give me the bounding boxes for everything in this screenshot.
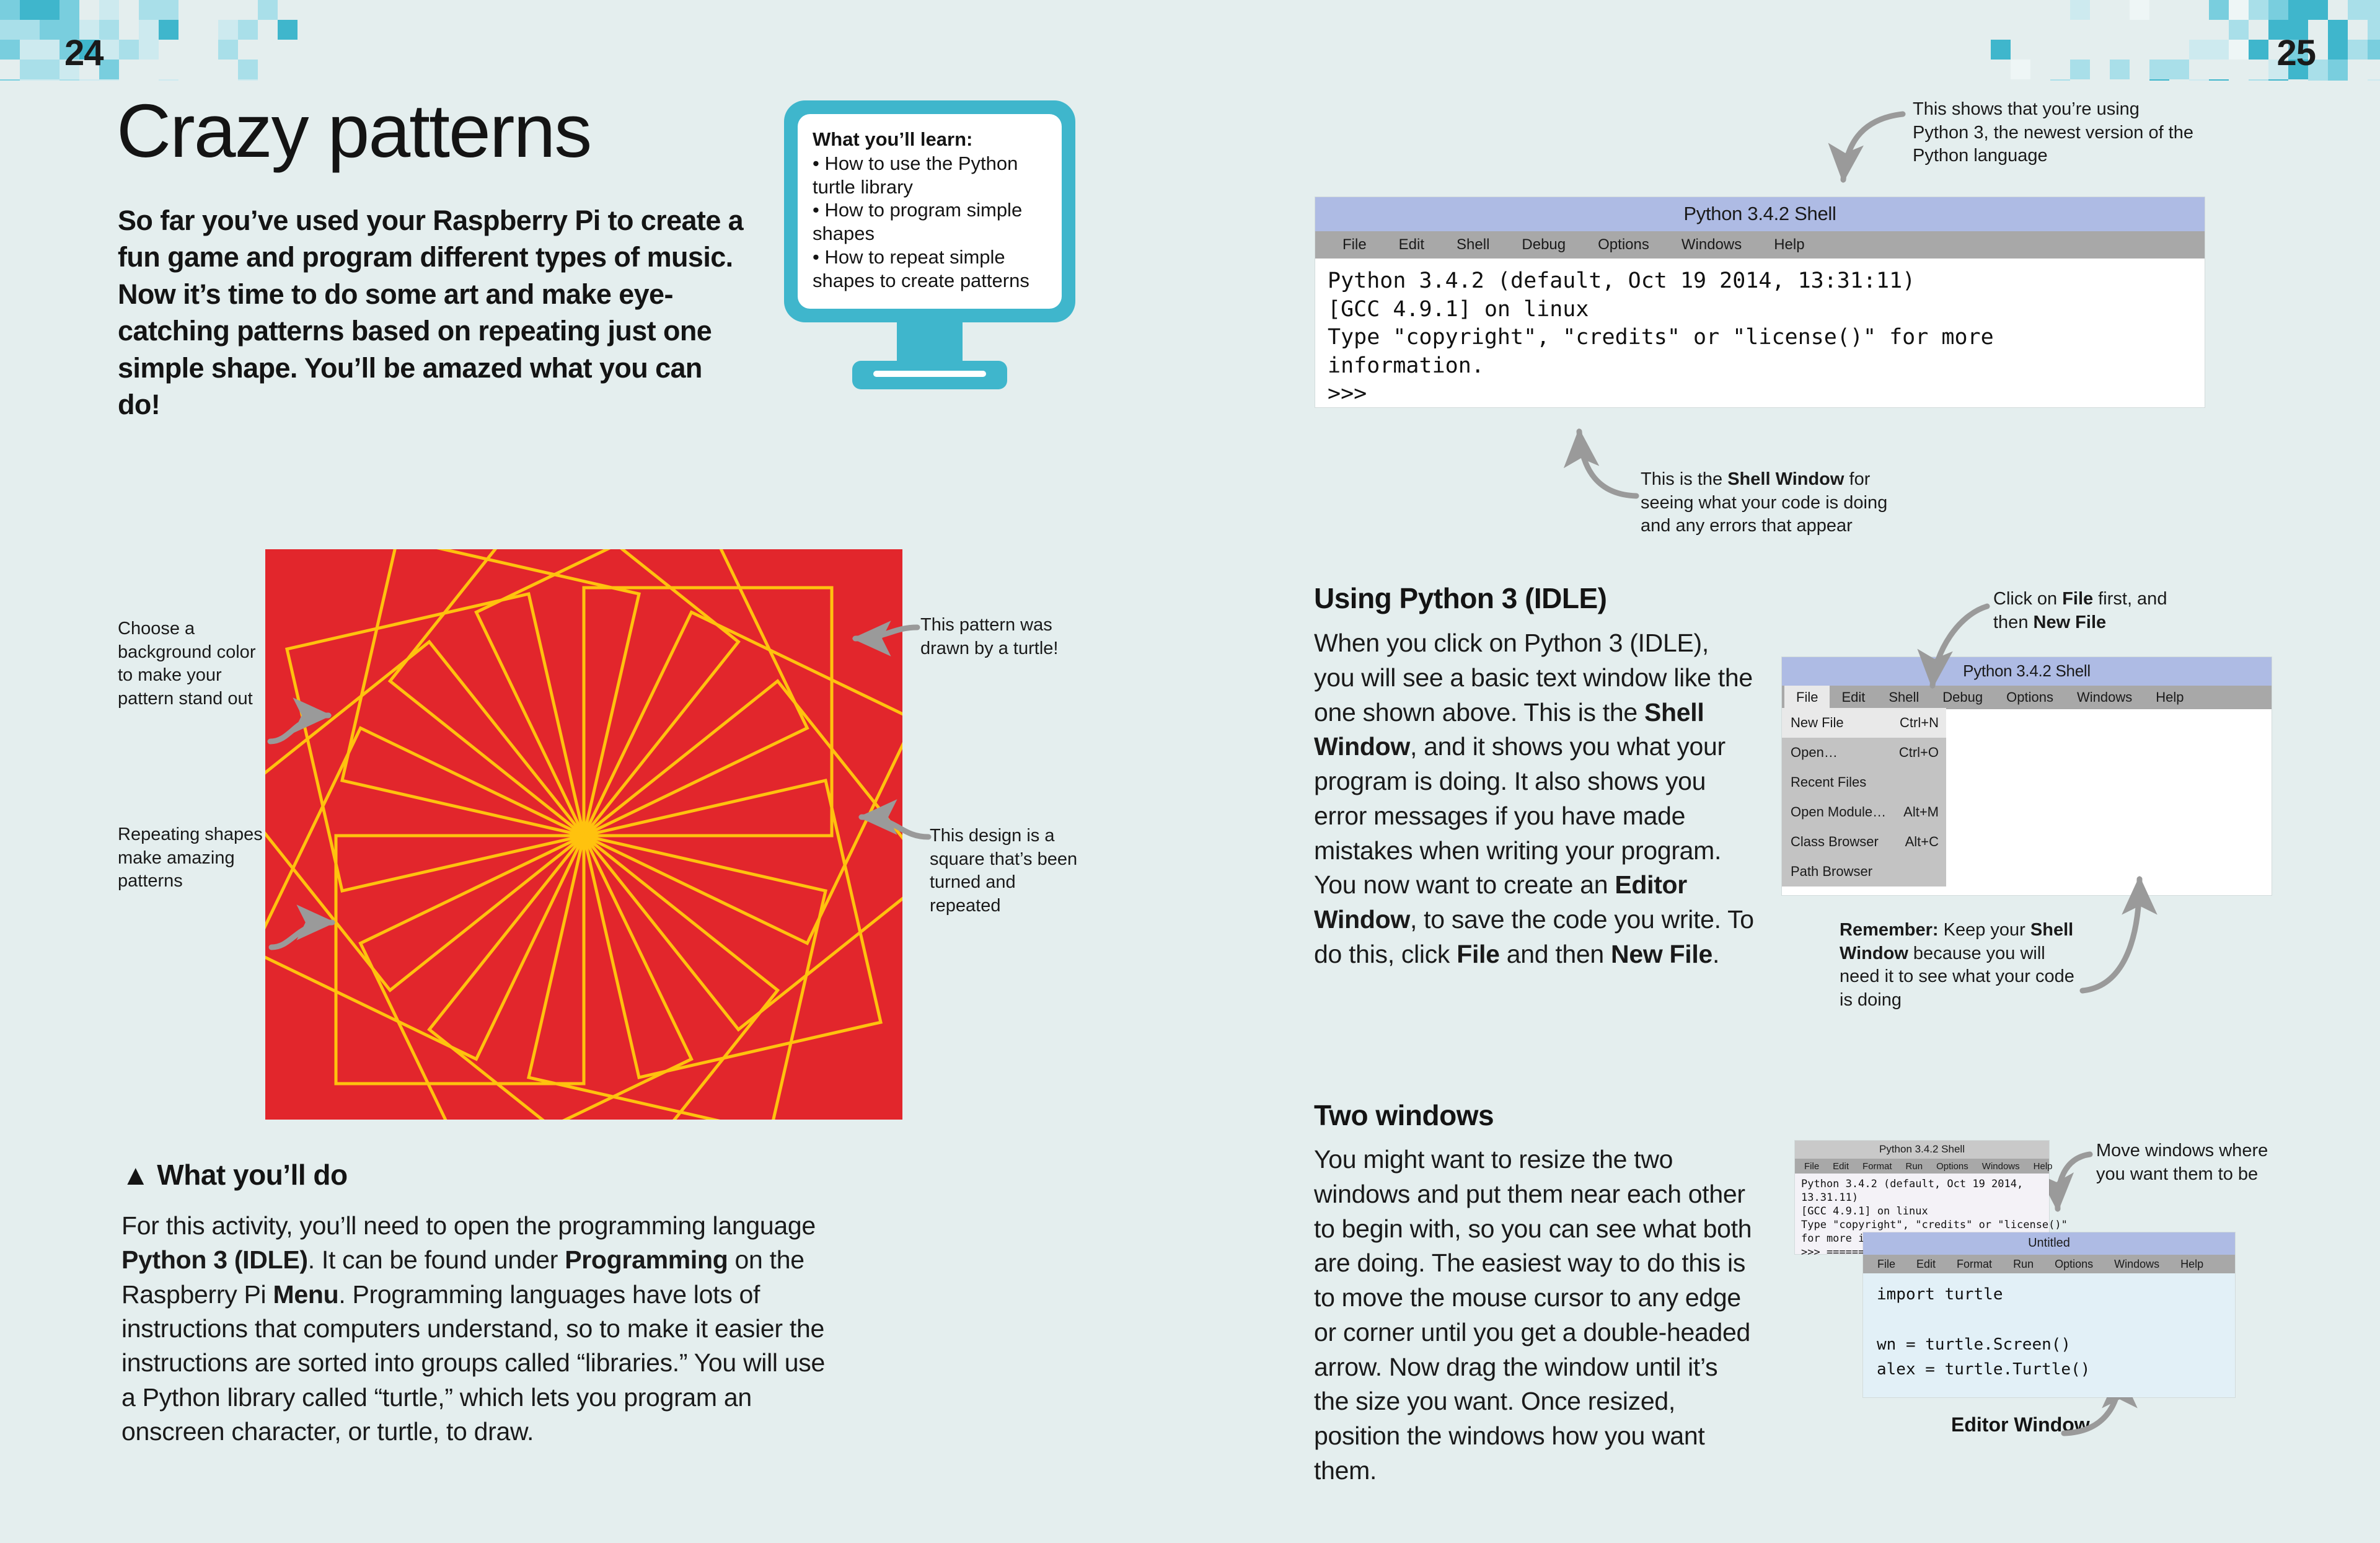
intro-paragraph: So far you’ve used your Raspberry Pi to …: [118, 202, 744, 423]
editor-menu-item-options[interactable]: Options: [2044, 1258, 2104, 1271]
menu-item-options[interactable]: Options: [1582, 236, 1665, 254]
annotation-drawn-by-turtle: This pattern was drawn by a turtle!: [920, 614, 1075, 660]
editor-menu-item-format[interactable]: Format: [1946, 1258, 2003, 1271]
dropdown-shortcut-class-browser: Alt+C: [1894, 834, 1939, 850]
menu-item-debug-2[interactable]: Debug: [1931, 689, 1994, 705]
monitor-bullet-3: • How to repeat simple shapes to create …: [813, 245, 1047, 293]
monitor-base: [852, 361, 1007, 389]
annotation-remember-shell: Remember: Keep your Shell Window because…: [1840, 919, 2081, 1012]
annotation-python3-version: This shows that you’re using Python 3, t…: [1913, 98, 2198, 168]
editor-menu-item-help[interactable]: Help: [2170, 1258, 2214, 1271]
menu-item-windows-2[interactable]: Windows: [2065, 689, 2144, 705]
dropdown-label-open: Open…: [1791, 745, 1838, 761]
shell-window-menubar[interactable]: File Edit Shell Debug Options Windows He…: [1315, 231, 2205, 259]
annotation-design-square: This design is a square that’s been turn…: [930, 825, 1078, 918]
mini-editor-code[interactable]: import turtle wn = turtle.Screen() alex …: [1863, 1273, 2235, 1397]
dropdown-item-class-browser[interactable]: Class Browser Alt+C: [1782, 827, 1946, 857]
monitor-heading: What you’ll learn:: [813, 128, 1047, 152]
mini-editor-window[interactable]: Untitled File Edit Format Run Options Wi…: [1863, 1232, 2235, 1397]
mini-menu-item-help[interactable]: Help: [2027, 1161, 2060, 1172]
dropdown-shortcut-open-module: Alt+M: [1892, 804, 1939, 820]
monitor-bullet-1: • How to use the Python turtle library: [813, 152, 1047, 199]
menu-item-shell-2[interactable]: Shell: [1877, 689, 1931, 705]
shell-window-output[interactable]: Python 3.4.2 (default, Oct 19 2014, 13:3…: [1315, 259, 2205, 407]
what-youll-do-body: For this activity, you’ll need to open t…: [121, 1209, 840, 1449]
dropdown-shortcut-path-browser: [1928, 864, 1939, 880]
monitor-screen: What you’ll learn: • How to use the Pyth…: [784, 100, 1075, 322]
menu-item-options-2[interactable]: Options: [1994, 689, 2065, 705]
monitor-bullet-2: • How to program simple shapes: [813, 198, 1047, 245]
mini-menu-item-options[interactable]: Options: [1929, 1161, 1975, 1172]
what-youll-do-heading: ▲ What you’ll do: [121, 1158, 348, 1192]
page-spread: 24 25 Crazy patterns So far you’ve used …: [0, 0, 2380, 1543]
mini-shell-titlebar: Python 3.4.2 Shell: [1795, 1141, 2049, 1159]
dropdown-item-open-module[interactable]: Open Module… Alt+M: [1782, 797, 1946, 827]
dropdown-label-path-browser: Path Browser: [1791, 864, 1872, 880]
dropdown-shortcut-new-file: Ctrl+N: [1889, 715, 1939, 731]
annotation-click-file: Click on File first, and then New File: [1993, 588, 2198, 634]
turtle-pattern-artwork: [265, 549, 902, 1120]
python-shell-window[interactable]: Python 3.4.2 Shell File Edit Shell Debug…: [1315, 197, 2205, 407]
dropdown-item-recent-files[interactable]: Recent Files: [1782, 767, 1946, 797]
menu-item-file-active[interactable]: File: [1784, 686, 1830, 709]
two-windows-heading: Two windows: [1314, 1099, 1494, 1132]
menu-item-debug[interactable]: Debug: [1505, 236, 1582, 254]
dropdown-label-recent-files: Recent Files: [1791, 774, 1866, 790]
dropdown-label-new-file: New File: [1791, 715, 1844, 731]
dropdown-shortcut-open: Ctrl+O: [1888, 745, 1939, 761]
page-title: Crazy patterns: [117, 93, 591, 169]
using-idle-heading: Using Python 3 (IDLE): [1314, 581, 1607, 615]
menu-window-menubar[interactable]: File Edit Shell Debug Options Windows He…: [1782, 686, 2272, 709]
menu-item-help[interactable]: Help: [1758, 236, 1820, 254]
page-number-left: 24: [64, 32, 104, 74]
label-editor-window: Editor Window: [1951, 1412, 2090, 1437]
two-windows-body: You might want to resize the two windows…: [1314, 1143, 1757, 1488]
menu-item-shell[interactable]: Shell: [1440, 236, 1505, 254]
annotation-shell-window: This is the Shell Window for seeing what…: [1641, 468, 1913, 538]
mini-shell-menubar[interactable]: File Edit Format Run Options Windows Hel…: [1795, 1159, 2049, 1174]
mini-menu-item-edit[interactable]: Edit: [1826, 1161, 1856, 1172]
mini-menu-item-file[interactable]: File: [1797, 1161, 1826, 1172]
using-idle-body: When you click on Python 3 (IDLE), you w…: [1314, 626, 1754, 972]
pixel-mosaic-right: [1971, 0, 2380, 81]
dropdown-shortcut-recent-files: [1928, 774, 1939, 790]
monitor-inner-panel: What you’ll learn: • How to use the Pyth…: [798, 114, 1062, 309]
editor-menu-item-run[interactable]: Run: [2003, 1258, 2044, 1271]
mini-menu-item-run[interactable]: Run: [1899, 1161, 1930, 1172]
file-menu-dropdown[interactable]: New File Ctrl+N Open… Ctrl+O Recent File…: [1782, 708, 1946, 886]
dropdown-item-new-file[interactable]: New File Ctrl+N: [1782, 708, 1946, 738]
pixel-mosaic-left: [0, 0, 397, 81]
dropdown-item-open[interactable]: Open… Ctrl+O: [1782, 738, 1946, 767]
mini-editor-menubar[interactable]: File Edit Format Run Options Windows Hel…: [1863, 1255, 2235, 1273]
what-youll-learn-monitor: What you’ll learn: • How to use the Pyth…: [784, 100, 1075, 389]
menu-item-windows[interactable]: Windows: [1665, 236, 1758, 254]
mini-editor-titlebar: Untitled: [1863, 1232, 2235, 1255]
page-number-right: 25: [2276, 32, 2316, 74]
dropdown-item-path-browser[interactable]: Path Browser: [1782, 857, 1946, 886]
annotation-repeating-shapes: Repeating shapes make amazing patterns: [118, 823, 273, 893]
mini-menu-item-format[interactable]: Format: [1856, 1161, 1899, 1172]
monitor-neck: [897, 322, 963, 361]
annotation-move-windows: Move windows where you want them to be: [2096, 1139, 2282, 1186]
menu-item-help-2[interactable]: Help: [2144, 689, 2195, 705]
menu-item-file[interactable]: File: [1326, 236, 1383, 254]
editor-menu-item-file[interactable]: File: [1867, 1258, 1906, 1271]
editor-menu-item-edit[interactable]: Edit: [1906, 1258, 1946, 1271]
annotation-background-color: Choose a background color to make your p…: [118, 617, 260, 711]
menu-item-edit[interactable]: Edit: [1383, 236, 1440, 254]
mini-menu-item-windows[interactable]: Windows: [1975, 1161, 2027, 1172]
menu-window-titlebar: Python 3.4.2 Shell: [1782, 657, 2272, 686]
shell-window-titlebar: Python 3.4.2 Shell: [1315, 197, 2205, 231]
editor-menu-item-windows[interactable]: Windows: [2104, 1258, 2170, 1271]
menu-item-edit-2[interactable]: Edit: [1830, 689, 1877, 705]
dropdown-label-class-browser: Class Browser: [1791, 834, 1879, 850]
dropdown-label-open-module: Open Module…: [1791, 804, 1886, 820]
